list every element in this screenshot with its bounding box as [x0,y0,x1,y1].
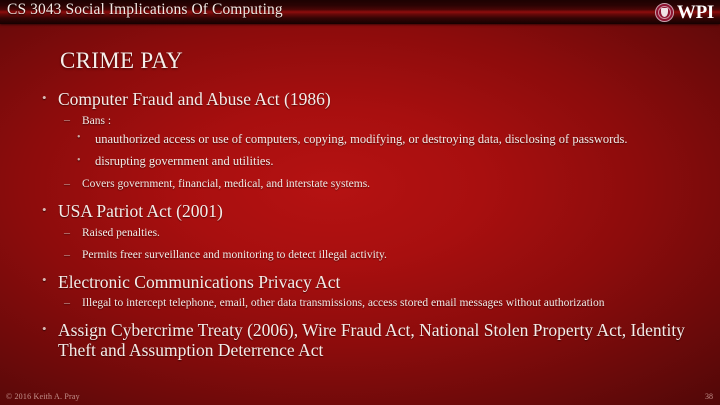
slide-body: • Computer Fraud and Abuse Act (1986) – … [0,90,720,361]
bullet-text: unauthorized access or use of computers,… [95,132,628,146]
bullet-level3: • unauthorized access or use of computer… [0,132,720,147]
bullet-marker: • [77,132,81,144]
bullet-text: Assign Cybercrime Treaty (2006), Wire Fr… [58,320,685,360]
bullet-level2: – Covers government, financial, medical,… [0,177,720,191]
bullet-level2: – Bans : [0,114,720,128]
bullet-marker: • [42,91,47,106]
bullet-text: disrupting government and utilities. [95,154,273,168]
bullet-level2: – Raised penalties. [0,226,720,240]
bullet-text: Permits freer surveillance and monitorin… [82,249,387,261]
bullet-text: USA Patriot Act (2001) [58,201,223,221]
presentation-slide: CS 3043 Social Implications Of Computing… [0,0,720,405]
bullet-marker: – [64,112,70,127]
course-title: CS 3043 Social Implications Of Computing [7,1,283,19]
footer-page-number: 38 [705,392,713,401]
bullet-text: Bans : [82,115,111,127]
bullet-level2: – Illegal to intercept telephone, email,… [0,296,720,310]
wpi-wordmark: WPI [677,3,714,22]
bullet-text: Electronic Communications Privacy Act [58,272,340,292]
bullet-marker: • [42,273,47,288]
bullet-text: Raised penalties. [82,227,160,239]
wpi-seal-icon [655,3,674,22]
bullet-marker: • [42,322,47,337]
bullet-text: Covers government, financial, medical, a… [82,178,370,190]
bullet-level1: • Electronic Communications Privacy Act [0,273,720,293]
bullet-level1: • USA Patriot Act (2001) [0,202,720,222]
slide-title: CRIME PAY [60,48,183,74]
bullet-marker: – [64,176,70,191]
bullet-marker: – [64,295,70,310]
footer-copyright: © 2016 Keith A. Pray [6,392,80,401]
slide-header-band: CS 3043 Social Implications Of Computing… [0,0,720,24]
bullet-marker: – [64,225,70,240]
bullet-text: Illegal to intercept telephone, email, o… [82,297,604,309]
bullet-marker: • [42,203,47,218]
bullet-marker: • [77,155,81,167]
bullet-level1: • Computer Fraud and Abuse Act (1986) [0,90,720,110]
bullet-level3: • disrupting government and utilities. [0,154,720,169]
bullet-marker: – [64,247,70,262]
bullet-level2: – Permits freer surveillance and monitor… [0,248,720,262]
shield-icon [661,8,668,17]
bullet-text: Computer Fraud and Abuse Act (1986) [58,89,331,109]
wpi-logo: WPI [655,1,714,23]
bullet-level1: • Assign Cybercrime Treaty (2006), Wire … [0,321,720,360]
